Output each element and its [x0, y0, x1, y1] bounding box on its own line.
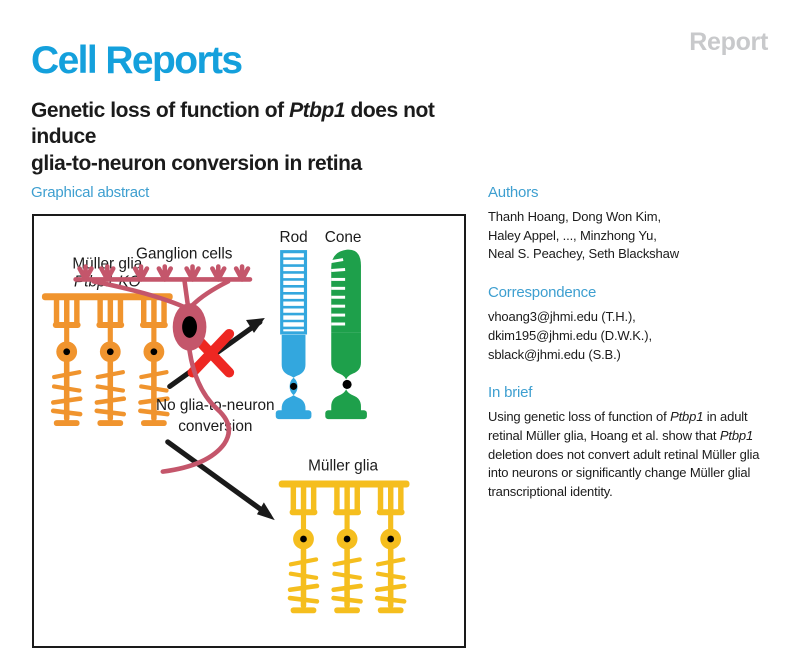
- page-title: Genetic loss of function of Ptbp1 does n…: [31, 98, 481, 177]
- muller-glia-out-label: Müller glia: [308, 458, 378, 475]
- correspondence-list: vhoang3@jhmi.edu (T.H.), dkim195@jhmi.ed…: [488, 308, 778, 364]
- graphical-abstract-heading: Graphical abstract: [31, 184, 149, 201]
- journal-logo: Cell Reports: [31, 41, 242, 80]
- authors-line: Thanh Hoang, Dong Won Kim,: [488, 208, 778, 227]
- cone-label: Cone: [325, 229, 362, 246]
- muller-glia-ko-nuclei: [63, 348, 157, 355]
- title-segment-1: Genetic loss of function of: [31, 99, 289, 122]
- muller-glia-out-group: Müller glia: [279, 458, 410, 614]
- article-metadata-column: Authors Thanh Hoang, Dong Won Kim, Haley…: [488, 184, 778, 502]
- in-brief-text: Using genetic loss of function of Ptbp1 …: [488, 408, 778, 502]
- authors-heading: Authors: [488, 184, 778, 201]
- article-type-label: Report: [689, 28, 768, 57]
- ganglion-cells-label: Ganglion cells: [136, 246, 233, 263]
- graphical-abstract-box: Müller glia Ptbp1 KO No gl: [32, 214, 466, 648]
- correspondence-email[interactable]: vhoang3@jhmi.edu (T.H.),: [488, 308, 778, 327]
- in-brief-segment: Using genetic loss of function of: [488, 409, 670, 424]
- muller-glia-out-cells: [287, 483, 406, 614]
- cone-cell: [325, 250, 367, 419]
- cone-nucleus: [343, 380, 352, 389]
- muller-glia-out-nuclei: [300, 536, 394, 543]
- graphical-abstract-figure: Müller glia Ptbp1 KO No gl: [34, 216, 464, 646]
- correspondence-heading: Correspondence: [488, 284, 778, 301]
- in-brief-heading: In brief: [488, 384, 778, 401]
- maintenance-arrow: [168, 442, 275, 520]
- authors-line: Haley Appel, ..., Minzhong Yu,: [488, 227, 778, 246]
- title-line-2: glia-to-neuron conversion in retina: [31, 152, 362, 175]
- in-brief-gene-name: Ptbp1: [670, 409, 703, 424]
- authors-line: Neal S. Peachey, Seth Blackshaw: [488, 245, 778, 264]
- authors-list: Thanh Hoang, Dong Won Kim, Haley Appel, …: [488, 208, 778, 264]
- in-brief-gene-name: Ptbp1: [720, 428, 753, 443]
- ganglion-nucleus: [182, 316, 197, 338]
- in-brief-segment: deletion does not convert adult retinal …: [488, 447, 759, 499]
- title-gene-name: Ptbp1: [289, 99, 345, 122]
- correspondence-section: Correspondence vhoang3@jhmi.edu (T.H.), …: [488, 284, 778, 364]
- correspondence-email[interactable]: sblack@jhmi.edu (S.B.): [488, 346, 778, 365]
- no-conversion-label-line2: conversion: [178, 418, 252, 435]
- rod-cell: [276, 252, 312, 419]
- in-brief-section: In brief Using genetic loss of function …: [488, 384, 778, 502]
- correspondence-email[interactable]: dkim195@jhmi.edu (D.W.K.),: [488, 327, 778, 346]
- rod-nucleus: [290, 383, 297, 390]
- muller-glia-ko-cells: [51, 295, 170, 426]
- rod-label: Rod: [280, 229, 308, 246]
- authors-section: Authors Thanh Hoang, Dong Won Kim, Haley…: [488, 184, 778, 264]
